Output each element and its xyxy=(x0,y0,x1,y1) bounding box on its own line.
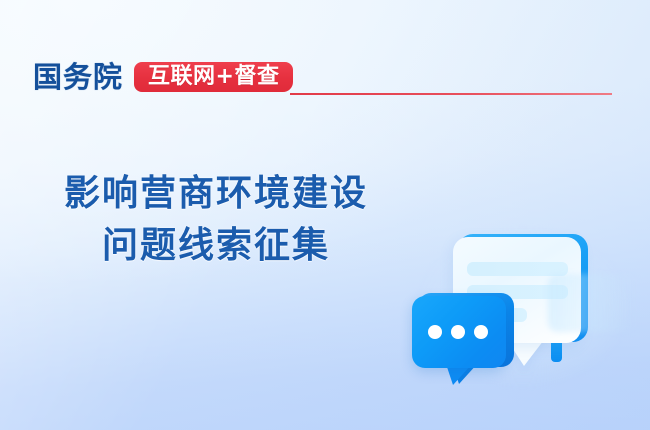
page-title-line-2: 问题线索征集 xyxy=(0,220,432,272)
message-line-icon xyxy=(467,262,568,276)
page-title-line-1: 影响营商环境建设 xyxy=(0,168,432,220)
illustration-flare xyxy=(548,274,640,332)
program-badge: 互联网+督查 xyxy=(134,62,293,92)
banner-header: 国务院 互联网+督查 xyxy=(33,56,293,98)
horizontal-rule-icon xyxy=(290,93,612,95)
typing-dot-icon xyxy=(451,325,465,339)
typing-dot-icon xyxy=(474,325,488,339)
typing-dot-icon xyxy=(428,325,442,339)
program-badge-label: 互联网+督查 xyxy=(148,66,279,88)
organization-name: 国务院 xyxy=(33,63,123,92)
gov-campaign-banner: 国务院 互联网+督查 影响营商环境建设 问题线索征集 xyxy=(0,0,650,430)
chat-bubbles-illustration xyxy=(398,204,646,402)
page-title: 影响营商环境建设 问题线索征集 xyxy=(0,168,432,272)
